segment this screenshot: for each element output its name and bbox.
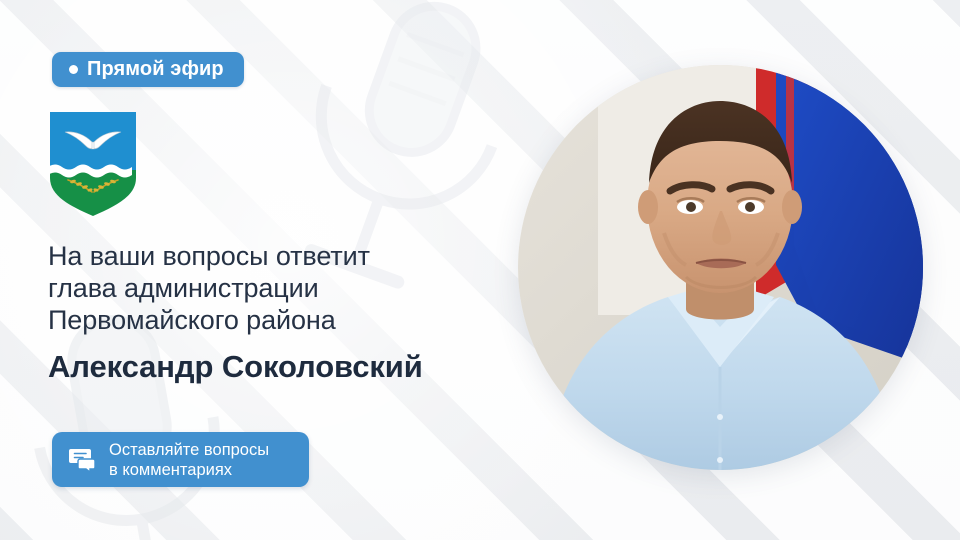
cta-line-1: Оставляйте вопросы <box>109 440 269 460</box>
live-badge-label: Прямой эфир <box>87 58 224 81</box>
headline-line-1: На ваши вопросы ответит <box>48 240 478 272</box>
coat-of-arms-icon <box>48 110 138 218</box>
headline-line-2: глава администрации <box>48 272 478 304</box>
headline-line-3: Первомайского района <box>48 304 478 336</box>
person-name: Александр Соколовский <box>48 349 423 385</box>
portrait-photo <box>518 65 923 470</box>
broadcast-announcement-card: Прямой эфир <box>0 0 960 540</box>
live-broadcast-badge[interactable]: Прямой эфир <box>52 52 244 87</box>
live-dot-icon <box>69 65 78 74</box>
leave-questions-button[interactable]: Оставляйте вопросы в комментариях <box>52 432 309 487</box>
headline: На ваши вопросы ответит глава администра… <box>48 240 478 336</box>
leave-questions-label: Оставляйте вопросы в комментариях <box>109 440 269 480</box>
cta-line-2: в комментариях <box>109 460 269 480</box>
comment-bubbles-icon <box>69 447 96 472</box>
